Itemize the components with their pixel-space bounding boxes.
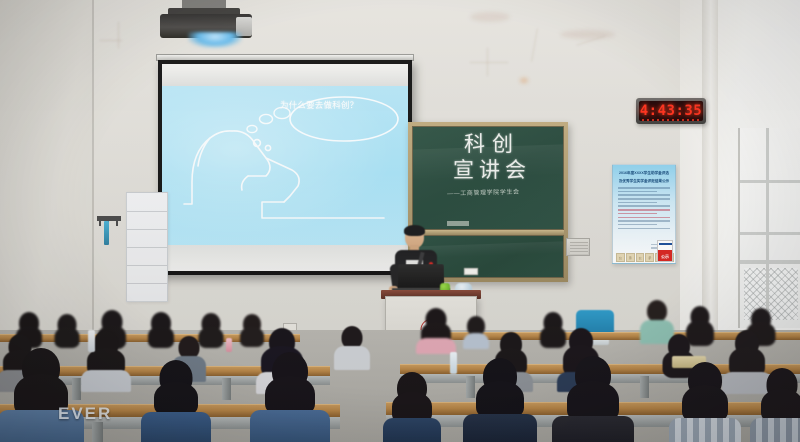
list-item [334,326,370,366]
poster-heading-line1: 2016年度XXXX学生助学金评选 [618,171,670,176]
student-front-f [560,356,626,442]
blackboard-title-line1: 科创 [429,131,555,157]
classroom-photo: 为什么要去做科创？ 科创 宣讲会 ——工商管理学院学生会 2016年度XXXX学… [0,0,800,442]
wall-poster: 2016年度XXXX学生助学金评选 及优秀学生奖学金评定结果公示 公 示 公 示… [612,164,676,264]
jacket-text: EVER [58,404,118,428]
podium-note [464,268,478,275]
projection-screen: 为什么要去做科创？ [158,60,412,275]
wall-pillar [702,0,718,330]
blackboard-subtitle: ——工商管理学院学生会 [447,186,559,198]
wall-hook-rack [97,216,121,221]
student-front-e [470,358,530,442]
poster-card-label: 公示 [658,254,672,260]
water-bottle [450,352,457,374]
student-front-b [148,360,204,442]
pink-bottle [226,338,232,352]
wall-seam [92,0,94,330]
desk-leg [640,376,649,398]
student-front-c [258,352,322,442]
hanging-blue-item [104,221,109,245]
student-front-h [756,368,800,442]
wall-paper-sheet [126,192,168,302]
chalk-tray [447,221,469,226]
list-item: 公 [636,253,645,262]
blackboard-title-line2: 宣讲会 [429,157,555,183]
blackboard-upper-panel: 科创 宣讲会 ——工商管理学院学生会 [412,126,564,230]
list-item [52,314,82,344]
list-item [462,316,490,344]
slide-top-band [162,64,408,86]
window [738,128,800,328]
clock-time-display: 4:43:35 [640,103,703,119]
student-front-d [388,372,436,442]
wall-speaker [566,238,590,256]
poster-corner-card: 公示 [657,240,673,262]
list-item: 示 [645,253,654,262]
desk-leg [222,378,231,400]
clock-led-dots [642,119,700,121]
poster-heading-line2: 及优秀学生奖学金评定结果公示 [618,179,670,184]
slide-question-text: 为什么要去做科创？ [280,100,372,111]
water-bottle [88,330,95,352]
slide-bottom-band [162,245,408,271]
projector-lens-glow [188,32,242,48]
list-item [418,308,454,344]
wall-left-panel [0,0,92,330]
list-item: 公 [616,253,625,262]
led-wall-clock: 4:43:35 [636,98,706,124]
list-item: 示 [626,253,635,262]
student-front-g [676,362,734,442]
presenter-hair [404,225,425,236]
